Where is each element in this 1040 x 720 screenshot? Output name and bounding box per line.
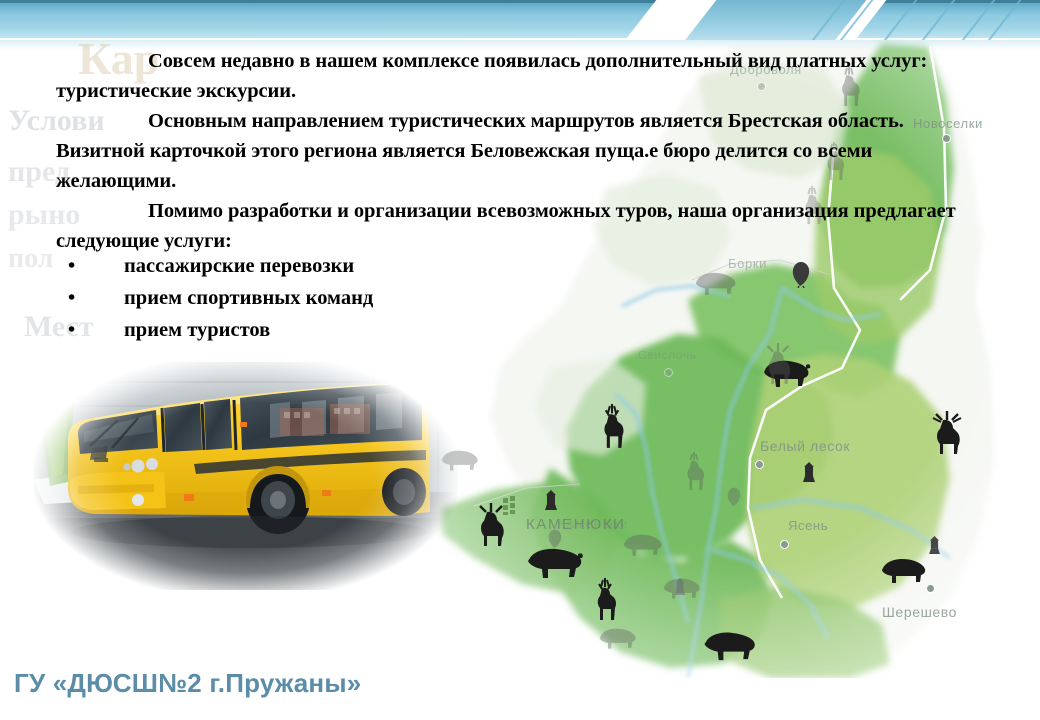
bullet-marker: • (60, 314, 124, 346)
elk-icon (928, 410, 966, 456)
map-label-yasen: Ясень (788, 518, 828, 533)
settlement-dot (926, 584, 935, 593)
settlement-dot (755, 460, 764, 469)
bison-icon (702, 628, 758, 662)
footer-organization-name: ГУ «ДЮСШ№2 г.Пружаны» (14, 668, 361, 699)
ghost-line-5: пол (8, 243, 53, 275)
settlement-dot (780, 540, 789, 549)
top-decorative-banner (0, 0, 1040, 40)
map-label-svisloch: Свислочь (638, 348, 697, 362)
boar-icon (662, 574, 702, 600)
list-item-label: прием туристов (124, 314, 270, 346)
elk-icon (472, 502, 510, 548)
map-label-shereshevo: Шерешево (882, 604, 957, 620)
services-bullet-list: • пассажирские перевозки • прием спортив… (60, 250, 660, 346)
list-item: • прием спортивных команд (60, 282, 660, 314)
list-item-label: пассажирские перевозки (124, 250, 354, 282)
paragraph-2: Основным направлением туристических марш… (56, 106, 966, 196)
boar-icon (880, 554, 928, 584)
deer-icon (596, 404, 628, 450)
watchtower-icon (928, 536, 941, 554)
bird-icon (545, 528, 565, 550)
list-item-label: прием спортивных команд (124, 282, 373, 314)
settlement-dot (664, 368, 673, 377)
presentation-slide: Доброволя Новоселки Борки Свислочь Белый… (0, 0, 1040, 720)
map-label-kamenyuki: КАМЕНЮКИ (526, 516, 626, 533)
bullet-marker: • (60, 282, 124, 314)
paragraph-1: Совсем недавно в нашем комплексе появила… (56, 46, 966, 106)
deer-icon (680, 452, 708, 492)
boar-icon (598, 624, 638, 650)
bird-icon (724, 486, 744, 508)
deer-icon (590, 578, 620, 622)
elk-icon (760, 342, 796, 386)
bird-icon (788, 260, 814, 288)
map-label-bely-lesok: Белый лесок (760, 438, 850, 454)
bullet-marker: • (60, 250, 124, 282)
paragraph-3: Помимо разработки и организации всевозмо… (56, 196, 966, 256)
boar-icon (622, 530, 664, 557)
watchtower-icon (544, 490, 558, 510)
boar-icon (694, 268, 738, 296)
watchtower-icon (802, 462, 816, 482)
slide-body-text: Совсем недавно в нашем комплексе появила… (56, 46, 966, 256)
bus-photo-frame (34, 362, 458, 590)
list-item: • пассажирские перевозки (60, 250, 660, 282)
banner-diagonal-lines (810, 0, 1040, 40)
list-item: • прием туристов (60, 314, 660, 346)
yellow-bus-photo (34, 362, 458, 590)
